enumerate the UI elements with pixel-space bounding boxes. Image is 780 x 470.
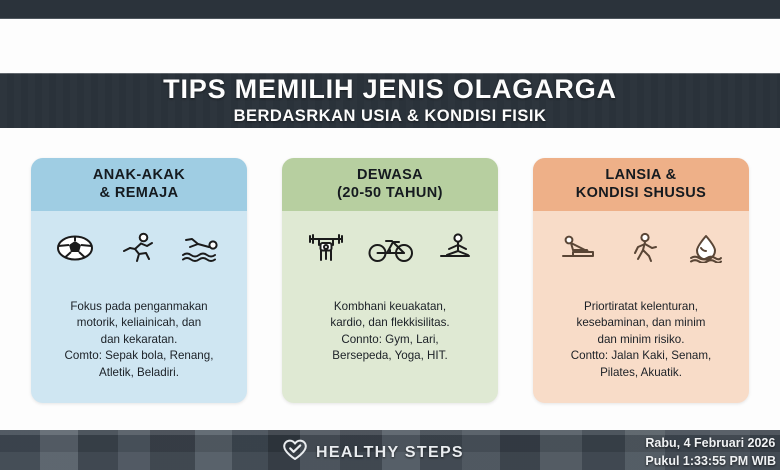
top-dark-strip — [0, 0, 780, 19]
card-text-line: motorik, keliainicah, dan — [65, 315, 214, 331]
card-text-line: Connto: Gym, Lari, — [330, 332, 449, 348]
card-lansia[interactable]: LANSIA & KONDISI SHUSUS — [533, 158, 749, 403]
yoga-person-icon — [435, 232, 475, 264]
card-text-line: Comto: Sepak bola, Renang, — [65, 348, 214, 364]
card-dewasa-icon-row — [282, 225, 498, 271]
card-text-line: kardio, dan flekkisilitas. — [330, 315, 449, 331]
card-text-line: Fokus pada penganmakan — [65, 299, 214, 315]
card-dewasa-header: DEWASA (20-50 TAHUN) — [282, 158, 498, 211]
card-dewasa[interactable]: DEWASA (20-50 TAHUN) — [282, 158, 498, 403]
stretching-person-icon — [557, 233, 601, 263]
running-person-icon — [118, 232, 156, 264]
slide-canvas: TIPS MEMILIH JENIS OLAGARGA BERDASRKAN U… — [0, 0, 780, 470]
card-lansia-body: Priortiratat kelenturan, kesebaminan, da… — [533, 211, 749, 403]
card-lansia-icon-row — [533, 225, 749, 271]
card-text-line: Bersepeda, Yoga, HIT. — [330, 348, 449, 364]
card-anak-remaja-text: Fokus pada penganmakan motorik, keliaini… — [57, 299, 222, 381]
card-dewasa-title-line2: (20-50 TAHUN) — [337, 185, 443, 203]
footer-bar: HEALTHY STEPS Rabu, 4 Februari 2026 Puku… — [0, 430, 780, 470]
water-drop-waves-icon — [687, 233, 725, 263]
card-dewasa-body: Kombhani keuakatan, kardio, dan flekkisi… — [282, 211, 498, 403]
page-subtitle: BERDASRKAN USIA & KONDISI FISIK — [234, 108, 547, 125]
card-anak-remaja-header: ANAK-AKAK & REMAJA — [31, 158, 247, 211]
page-title: TIPS MEMILIH JENIS OLAGARGA — [163, 76, 617, 103]
card-anak-remaja-icon-row — [31, 225, 247, 271]
card-anak-remaja-title-line1: ANAK-AKAK — [93, 167, 185, 185]
card-lansia-title-line2: KONDISI SHUSUS — [576, 185, 706, 203]
card-text-line: Priortiratat kelenturan, — [571, 299, 712, 315]
card-lansia-title-line1: LANSIA & — [605, 167, 676, 185]
timestamp-date: Rabu, 4 Februari 2026 — [645, 435, 776, 453]
brand-name: HEALTHY STEPS — [316, 444, 464, 462]
card-text-line: Contto: Jalan Kaki, Senam, — [571, 348, 712, 364]
card-anak-remaja-body: Fokus pada penganmakan motorik, keliaini… — [31, 211, 247, 403]
timestamp-time: Pukul 1:33:55 PM WIB — [645, 453, 776, 470]
card-anak-remaja-title-line2: & REMAJA — [100, 185, 179, 203]
card-anak-remaja[interactable]: ANAK-AKAK & REMAJA — [31, 158, 247, 403]
walking-person-icon — [626, 232, 662, 264]
brand-logo: HEALTHY STEPS — [282, 439, 464, 466]
card-lansia-header: LANSIA & KONDISI SHUSUS — [533, 158, 749, 211]
timestamp: Rabu, 4 Februari 2026 Pukul 1:33:55 PM W… — [645, 435, 776, 470]
card-text-line: Pilates, Akuatik. — [571, 365, 712, 381]
heart-check-icon — [282, 439, 308, 466]
header-banner: TIPS MEMILIH JENIS OLAGARGA BERDASRKAN U… — [0, 73, 780, 128]
card-dewasa-text: Kombhani keuakatan, kardio, dan flekkisi… — [322, 299, 457, 365]
card-text-line: Atletik, Beladiri. — [65, 365, 214, 381]
soccer-ball-icon — [55, 233, 95, 263]
swimming-person-icon — [179, 233, 223, 263]
card-lansia-text: Priortiratat kelenturan, kesebaminan, da… — [563, 299, 720, 381]
card-grid: ANAK-AKAK & REMAJA — [0, 158, 780, 403]
card-text-line: dan minim risiko. — [571, 332, 712, 348]
weightlifting-icon — [305, 232, 347, 264]
card-text-line: dan kekaratan. — [65, 332, 214, 348]
card-text-line: kesebaminan, dan minim — [571, 315, 712, 331]
bicycle-icon — [368, 233, 414, 263]
card-dewasa-title-line1: DEWASA — [357, 167, 423, 185]
card-text-line: Kombhani keuakatan, — [330, 299, 449, 315]
